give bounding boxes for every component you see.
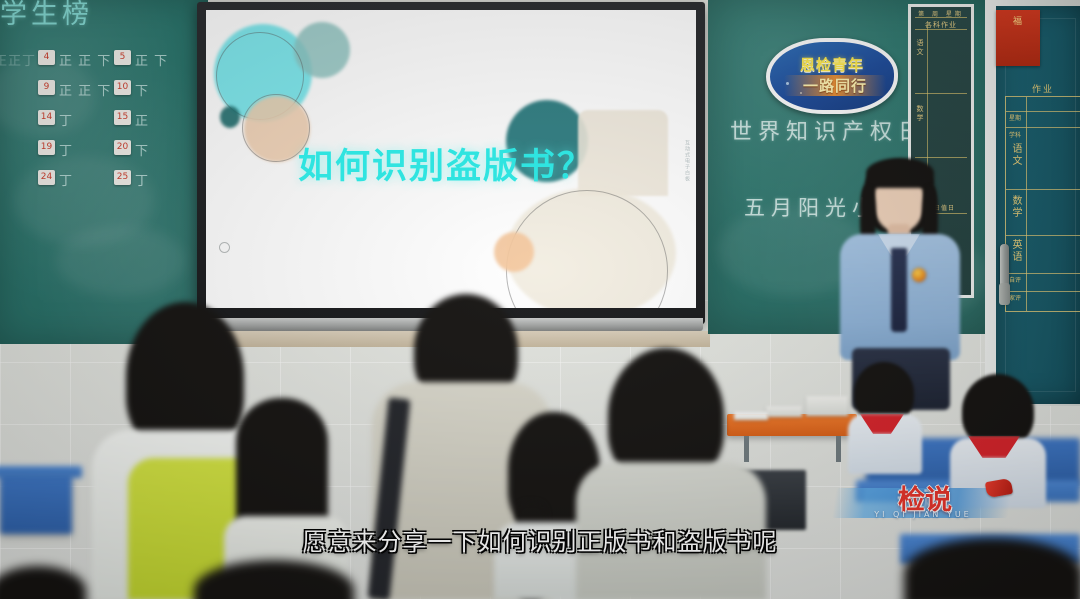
sticker-line-1: 恩检青年 — [778, 54, 886, 75]
tally-marks: 下 — [135, 80, 149, 99]
book-stack — [766, 406, 802, 417]
power-icon[interactable] — [219, 242, 230, 253]
tally-marks: 正 正 下 — [59, 50, 111, 69]
tally-marks: 丁 — [59, 110, 73, 129]
door-poster: 福 — [996, 10, 1040, 66]
smartboard-side-label: 互动式电子白板 — [680, 140, 690, 182]
speaker-necktie — [891, 248, 907, 332]
table-leg — [836, 436, 841, 462]
table-leg — [744, 436, 749, 462]
tally-number-card: 9 — [38, 80, 55, 95]
tally-number-card: 20 — [114, 140, 131, 155]
tally-marks: 下 — [135, 140, 149, 159]
tally-number-card: 19 — [38, 140, 55, 155]
tally-marks: 丁 — [59, 170, 73, 189]
tally-number-card: 4 — [38, 50, 55, 65]
tally-marks: 正 下 — [135, 50, 168, 69]
watermark-pinyin: YI QI JIAN YUE — [840, 510, 1006, 519]
door-subject-1: 数学 — [1009, 195, 1023, 219]
smartboard-frame: 如何识别盗版书？ 互动式电子白板 — [197, 2, 705, 324]
chalk-text-may-sunshine: 五月阳光小 — [744, 192, 879, 222]
book-stack — [734, 412, 768, 420]
door-lock-plate[interactable] — [999, 283, 1010, 305]
student-desk-top — [0, 466, 82, 478]
tally-number-card: 25 — [114, 170, 131, 185]
projection-screen[interactable]: 如何识别盗版书？ 互动式电子白板 — [206, 10, 696, 308]
door-small-row-1: 家评 — [1009, 293, 1023, 302]
tally-number-card: 14 — [38, 110, 55, 125]
tally-number-card: 24 — [38, 170, 55, 185]
dark-teal-dot — [220, 106, 240, 128]
prosecutor-badge — [912, 268, 926, 282]
chalk-text-world-ip-day: 世界知识产权日 — [730, 114, 926, 146]
door-subject-2: 英语 — [1009, 239, 1023, 263]
classroom-video-frame: 学生榜 4正 正 下9正 正 下14丁19丁24丁 5正 下10下15正20下2… — [0, 0, 1080, 599]
tally-marks: 正 正 下 — [59, 80, 111, 99]
tally-marks: 丁 — [59, 140, 73, 159]
door-chart-header: 作业 — [1006, 82, 1080, 95]
tally-number-card: 5 — [114, 50, 131, 65]
homework-subject-0: 语文 — [916, 39, 925, 57]
peach-circle-small — [494, 232, 534, 272]
tally-marks: 丁 — [135, 170, 149, 189]
door-homework-chart: 作业 星期 学科 语文 数学 英语 自评 家评 — [1005, 96, 1080, 312]
chalkboard-left: 学生榜 4正 正 下9正 正 下14丁19丁24丁 5正 下10下15正20下2… — [0, 0, 208, 344]
door-chart-col1: 星期 — [1009, 113, 1023, 122]
door-small-row-0: 自评 — [1009, 275, 1023, 284]
book-stack — [806, 396, 848, 416]
slide-title: 如何识别盗版书？ — [298, 138, 594, 189]
tally-number-card: 10 — [114, 80, 131, 95]
door-poster-text: 福 — [996, 16, 1040, 28]
door-subject-0: 语文 — [1009, 143, 1023, 167]
broadcast-watermark: 一起 检说 YI QI JIAN YUE — [834, 478, 1010, 526]
tally-marks: 正 — [135, 110, 149, 129]
door-chart-col2: 学科 — [1009, 130, 1023, 139]
tally-number-card: 15 — [114, 110, 131, 125]
video-subtitle: 愿意来分享一下如何识别正版书和盗版书呢 — [0, 522, 1080, 557]
homework-subject-1: 数学 — [916, 105, 925, 123]
board-heading: 学生榜 — [0, 0, 93, 31]
campaign-sticker: 恩检青年 一路同行 — [766, 38, 898, 114]
sticker-line-2: 一路同行 — [784, 75, 886, 96]
